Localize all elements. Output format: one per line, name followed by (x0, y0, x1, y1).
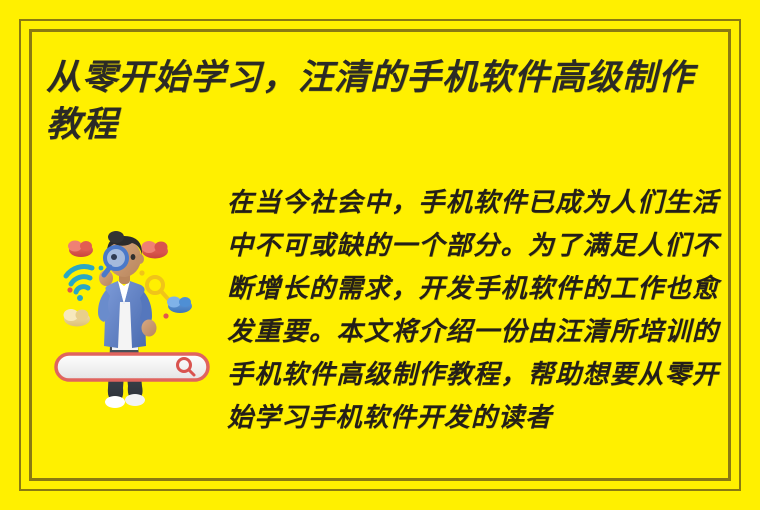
cream-cloud-icon (64, 309, 91, 327)
dot-accent-3 (139, 270, 144, 275)
person-right-hand (142, 320, 157, 337)
search-glass-small-icon (147, 277, 168, 299)
article-card: 从零开始学习，汪清的手机软件高级制作教程 在当今社会中，手机软件已成为人们生活中… (0, 0, 760, 510)
red-cloud-left-icon (68, 241, 93, 258)
dot-accent-1 (67, 287, 72, 292)
search-bar (56, 354, 208, 380)
red-cloud-right-icon (142, 241, 169, 259)
person-eye (131, 254, 136, 260)
blue-cloud-icon (167, 297, 192, 314)
wifi-icon (66, 267, 92, 301)
dot-accent-2 (99, 266, 104, 271)
page-title: 从零开始学习，汪清的手机软件高级制作教程 (46, 54, 718, 149)
hero-illustration (54, 228, 214, 414)
person-hair-tuft (108, 231, 124, 243)
person-ear (136, 254, 144, 264)
article-body-text: 在当今社会中，手机软件已成为人们生活中不可或缺的一个部分。为了满足人们不断增长的… (227, 182, 719, 440)
dot-accent-4 (163, 313, 168, 318)
person-left-shoe (105, 396, 125, 408)
person-right-shoe (125, 394, 145, 406)
